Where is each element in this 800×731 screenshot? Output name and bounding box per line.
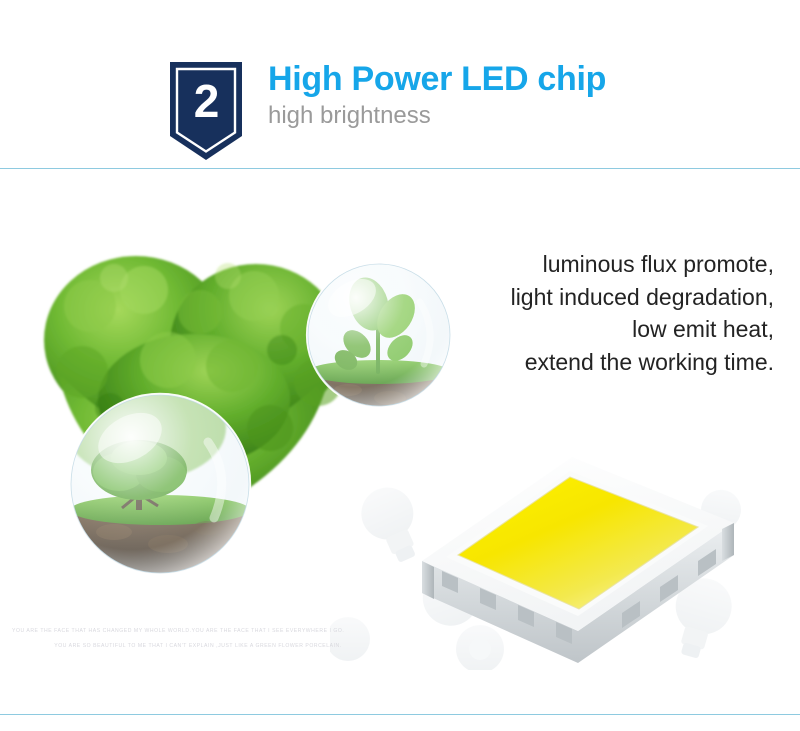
watermark-line: YOU ARE SO BEAUTIFUL TO ME THAT I CAN'T … [12, 639, 392, 654]
watermark-line: YOU ARE THE FACE THAT HAS CHANGED MY WHO… [12, 624, 392, 639]
footer-divider [0, 714, 800, 715]
badge-number-label: 2 [170, 62, 242, 140]
header-divider [0, 168, 800, 169]
smd-led-chip-graphic [330, 395, 760, 670]
page-subtitle: high brightness [268, 101, 606, 131]
led-chip-illustration [330, 395, 760, 670]
feature-line: low emit heat, [444, 313, 774, 346]
feature-line: luminous flux promote, [444, 248, 774, 281]
ghost-bulb [456, 625, 504, 670]
feature-line: extend the working time. [444, 346, 774, 379]
product-detail-page: 2 High Power LED chip high brightness [0, 0, 800, 731]
section-header: 2 High Power LED chip high brightness [0, 58, 800, 168]
feature-line: light induced degradation, [444, 281, 774, 314]
ghost-bulb [353, 479, 431, 570]
header-text-group: High Power LED chip high brightness [268, 58, 606, 131]
section-number-badge: 2 [170, 62, 242, 160]
page-title: High Power LED chip [268, 60, 606, 98]
watermark-text: YOU ARE THE FACE THAT HAS CHANGED MY WHO… [12, 624, 392, 654]
feature-description: luminous flux promote, light induced deg… [444, 248, 774, 379]
